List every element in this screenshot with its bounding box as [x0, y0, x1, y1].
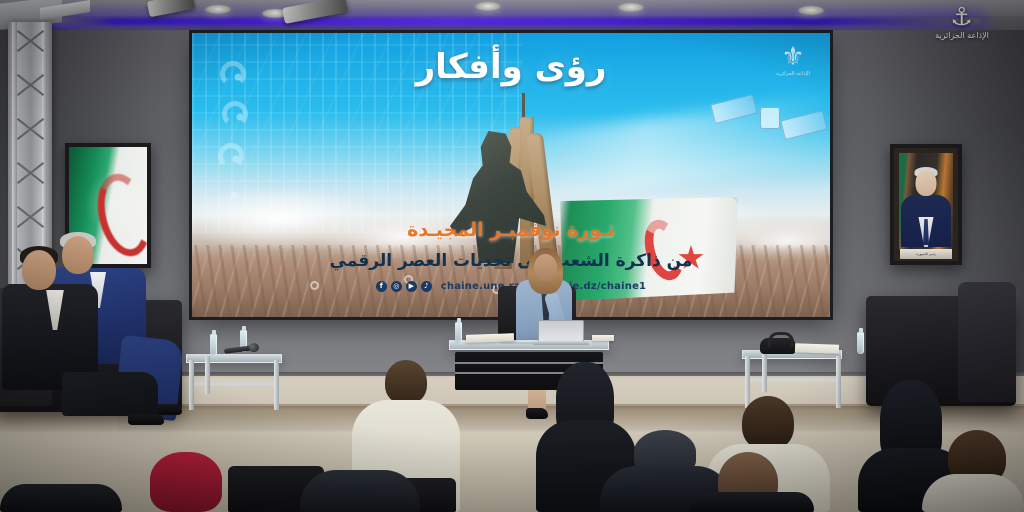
- youtube-icon: ▶: [406, 281, 417, 292]
- ceiling-downlight: [798, 6, 824, 15]
- water-bottle: [857, 332, 864, 354]
- led-cove-light: [60, 18, 980, 25]
- portrait-inner: رئيس الجمهورية: [894, 148, 958, 261]
- led-video-wall: ⚜ الإذاعة الجزائرية رؤى وأفكار ثـورة نوف…: [192, 33, 830, 317]
- stage-truss: [8, 22, 52, 284]
- handbag: [760, 338, 796, 354]
- panelist-head: [62, 236, 94, 274]
- tiktok-icon: ♪: [421, 281, 432, 292]
- portrait-nameplate: رئيس الجمهورية: [900, 249, 952, 259]
- moderator-shoe: [526, 408, 548, 419]
- audience-body: [300, 470, 420, 512]
- truss-rail: [42, 22, 47, 284]
- watermark-logo-mark: ⚓: [914, 4, 1010, 30]
- moderator-head: [534, 254, 557, 281]
- sofa-armrest: [958, 282, 1016, 402]
- table-leg: [745, 356, 750, 408]
- watermark-logo-text: الإذاعة الجزائرية: [914, 31, 1010, 40]
- ceiling-downlight: [475, 2, 501, 11]
- desk-papers: [592, 335, 614, 341]
- framed-president-portrait: رئيس الجمهورية: [890, 144, 962, 265]
- audience-head: [385, 360, 427, 404]
- facebook-icon: f: [376, 281, 387, 292]
- water-bottle: [210, 334, 217, 356]
- laptop-screen: [538, 320, 584, 342]
- water-bottle: [455, 322, 462, 344]
- audience-body: [0, 484, 122, 512]
- broadcast-frame: رئيس الجمهورية: [0, 0, 1024, 512]
- ceiling-downlight: [618, 3, 644, 12]
- panelist-legs: [62, 372, 158, 416]
- truss-rail: [12, 22, 17, 284]
- audience-body: [922, 474, 1024, 512]
- program-title: رؤى وأفكار: [192, 47, 830, 87]
- martyrs-memorial-graphic: [450, 111, 600, 269]
- satellite-body: [760, 107, 780, 129]
- table-papers: [795, 343, 839, 354]
- table-leg: [274, 360, 279, 410]
- audience-hijab-red: [150, 452, 222, 512]
- satellite-panel: [710, 94, 758, 124]
- coffee-table-left: [186, 354, 282, 363]
- theme-title: ثـورة نوفمبـر المجيـدة: [192, 219, 830, 241]
- channel-watermark: ⚓ الإذاعة الجزائرية: [914, 4, 1010, 52]
- table-leg: [205, 356, 210, 394]
- theme-subtitle: من ذاكرة الشعب إلى تحديات العصر الرقمي: [192, 251, 830, 271]
- satellite-graphic: [712, 81, 830, 155]
- portrait-nameplate-text: رئيس الجمهورية: [900, 249, 952, 259]
- audience-body: [690, 492, 814, 512]
- portrait-face: [916, 170, 937, 196]
- panelist-head: [22, 250, 56, 290]
- table-leg: [762, 352, 767, 392]
- satellite-panel: [780, 110, 828, 140]
- table-leg: [189, 360, 194, 410]
- desk-papers: [466, 333, 514, 343]
- ceiling-downlight: [205, 5, 231, 14]
- audience-head: [742, 396, 794, 450]
- table-leg: [836, 356, 841, 408]
- laptop-base: [533, 341, 589, 345]
- panelist-shoe: [128, 414, 164, 425]
- instagram-icon: ◎: [391, 281, 402, 292]
